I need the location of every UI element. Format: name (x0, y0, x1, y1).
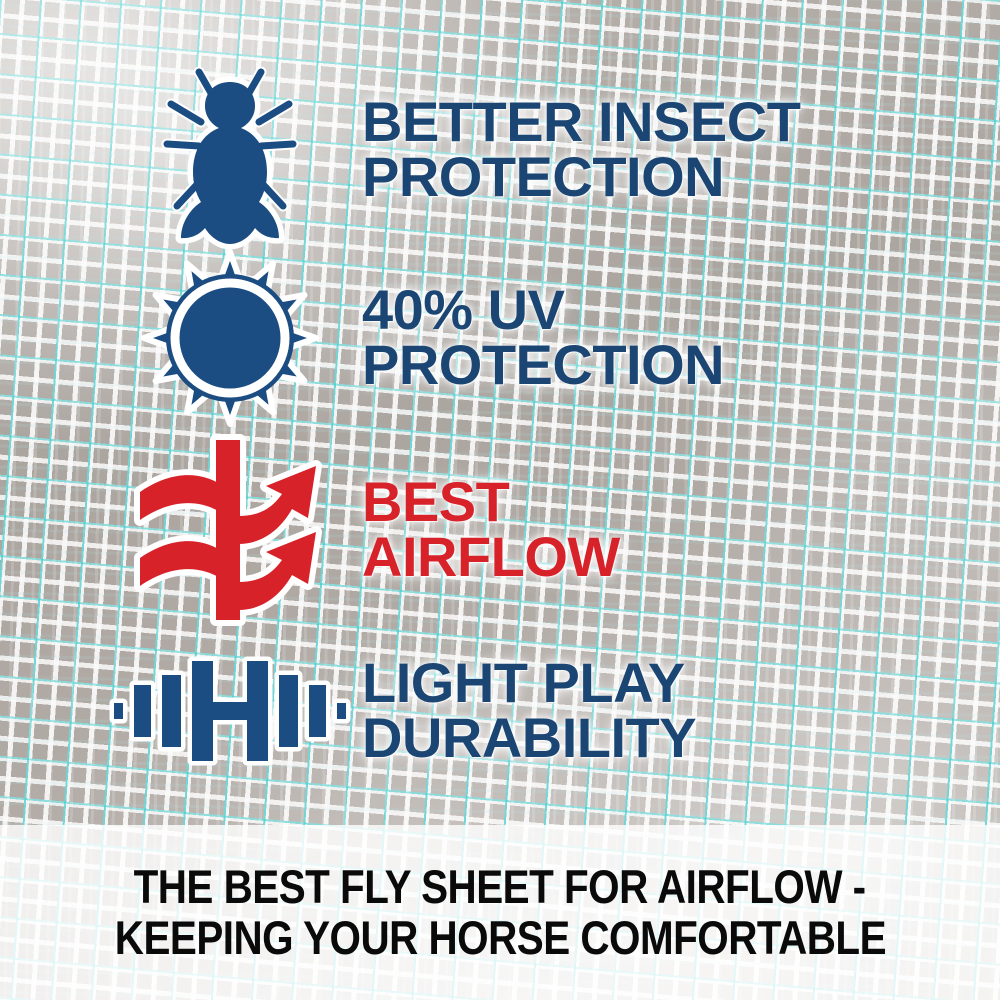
feature-list: BETTER INSECT PROTECTION (0, 0, 1000, 820)
fly-icon (155, 60, 305, 240)
feature-label-airflow: BEST AIRFLOW (362, 475, 920, 585)
icon-cell-uv (120, 250, 340, 426)
feature-label-durability: LIGHT PLAY DURABILITY (362, 656, 920, 766)
infographic-canvas: BETTER INSECT PROTECTION (0, 0, 1000, 1000)
caption-band: THE BEST FLY SHEET FOR AIRFLOW - KEEPING… (0, 825, 1000, 1000)
feature-row-airflow: BEST AIRFLOW (120, 440, 920, 620)
feature-row-insect-protection: BETTER INSECT PROTECTION (120, 60, 920, 240)
feature-row-uv-protection: 40% UV PROTECTION (120, 248, 920, 428)
sun-icon (142, 250, 318, 426)
dumbbell-icon (112, 655, 348, 767)
caption-line-1: THE BEST FLY SHEET FOR AIRFLOW - (134, 862, 866, 913)
label-cell-insect: BETTER INSECT PROTECTION (340, 95, 920, 205)
airflow-icon (130, 440, 330, 620)
label-cell-uv: 40% UV PROTECTION (340, 283, 920, 393)
feature-label-uv-protection: 40% UV PROTECTION (362, 283, 920, 393)
caption-line-2: KEEPING YOUR HORSE COMFORTABLE (114, 913, 885, 964)
label-cell-durability: LIGHT PLAY DURABILITY (340, 656, 920, 766)
icon-cell-durability (120, 655, 340, 767)
icon-cell-insect (120, 60, 340, 240)
icon-cell-airflow (120, 440, 340, 620)
label-cell-airflow: BEST AIRFLOW (340, 475, 920, 585)
feature-label-insect-protection: BETTER INSECT PROTECTION (362, 95, 920, 205)
feature-row-durability: LIGHT PLAY DURABILITY (120, 636, 920, 786)
